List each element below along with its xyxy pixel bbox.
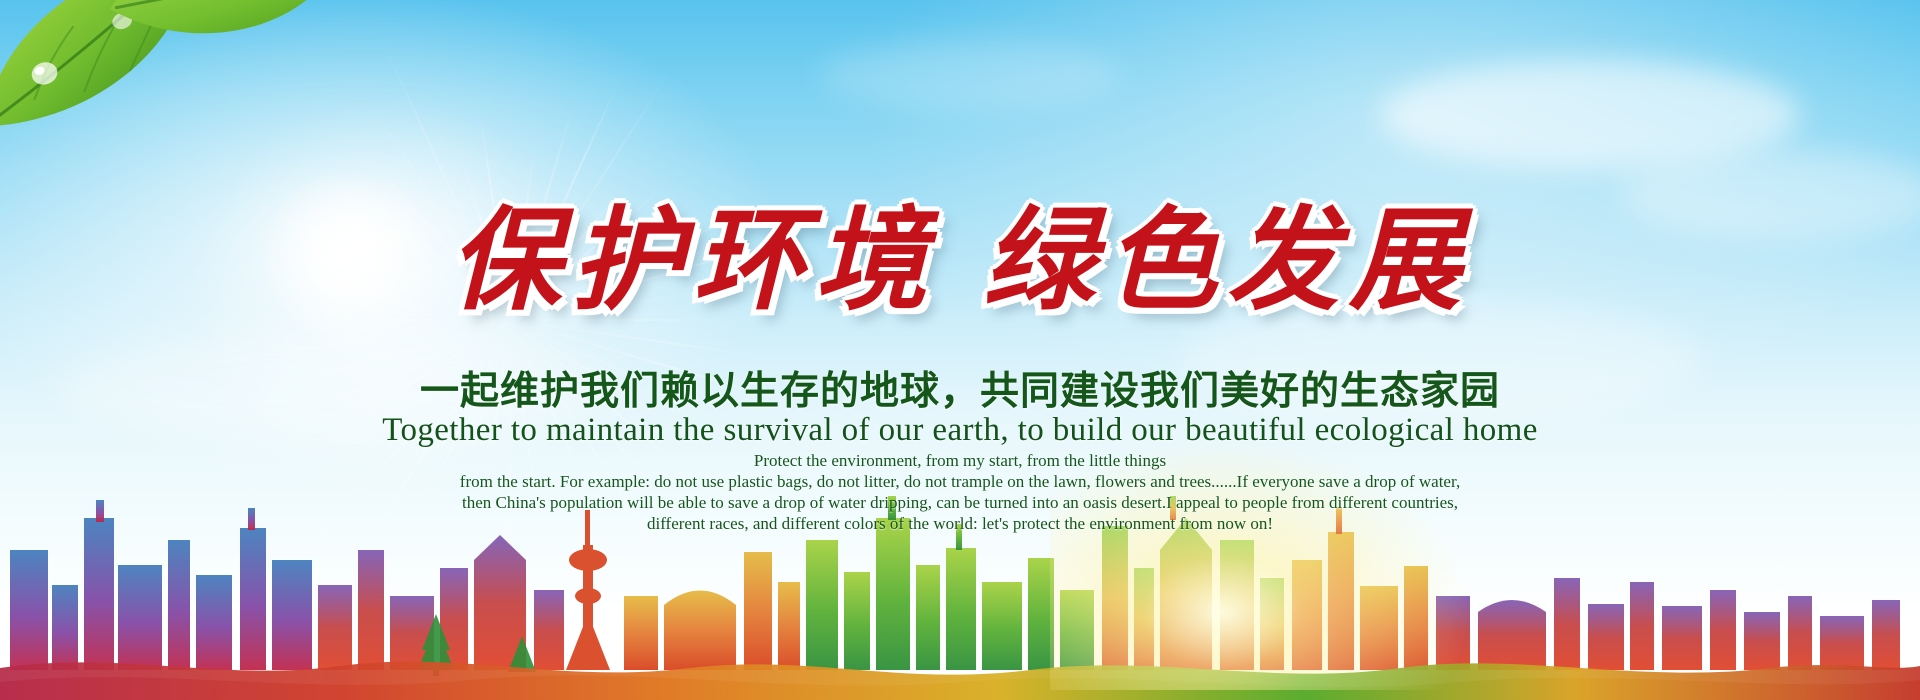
headline-part-1: 保护环境 — [449, 200, 937, 324]
body-paragraph: Protect the environment, from my start, … — [0, 450, 1920, 534]
body-line: Protect the environment, from my start, … — [0, 450, 1920, 471]
body-line: then China's population will be able to … — [0, 492, 1920, 513]
subtitle-english: Together to maintain the survival of our… — [0, 412, 1920, 449]
banner-text-content: 保护环境绿色发展 一起维护我们赖以生存的地球，共同建设我们美好的生态家园 Tog… — [0, 0, 1920, 700]
headline-part-2: 绿色发展 — [983, 200, 1471, 324]
page-title: 保护环境绿色发展 — [0, 170, 1920, 332]
body-line: different races, and different colors of… — [0, 513, 1920, 534]
body-line: from the start. For example: do not use … — [0, 471, 1920, 492]
environment-banner: 保护环境绿色发展 一起维护我们赖以生存的地球，共同建设我们美好的生态家园 Tog… — [0, 0, 1920, 700]
subtitle-chinese: 一起维护我们赖以生存的地球，共同建设我们美好的生态家园 — [0, 360, 1920, 416]
